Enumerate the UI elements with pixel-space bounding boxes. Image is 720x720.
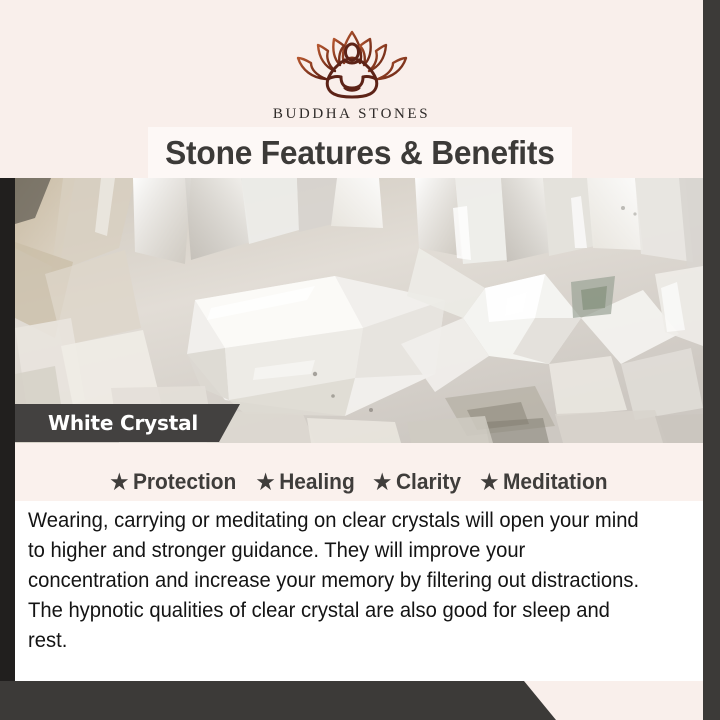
stone-name-label: White Crystal <box>48 411 198 435</box>
benefits-row: ★ Protection ★ Healing ★ Clarity ★ Medit… <box>15 463 703 501</box>
card-header: BUDDHA STONES Stone Features & Benefits <box>0 0 703 178</box>
star-icon: ★ <box>481 472 499 493</box>
benefit-label: Clarity <box>396 469 461 495</box>
white-crystal-photo <box>15 178 703 443</box>
star-icon: ★ <box>373 472 391 493</box>
benefit-label: Meditation <box>503 469 608 495</box>
benefit-item-clarity: ★ Clarity <box>373 469 461 495</box>
stone-feature-card: BUDDHA STONES Stone Features & Benefits <box>0 0 720 720</box>
content-top-strip <box>15 443 703 463</box>
brand-logo: BUDDHA STONES <box>0 26 703 123</box>
stone-name-tag: White Crystal <box>15 404 240 442</box>
benefit-label: Healing <box>279 469 354 495</box>
frame-left-bar <box>0 170 15 682</box>
star-icon: ★ <box>110 472 128 493</box>
title-banner: Stone Features & Benefits <box>148 127 572 178</box>
benefit-label: Protection <box>133 469 236 495</box>
benefit-item-protection: ★ Protection <box>110 469 236 495</box>
lotus-meditation-icon <box>278 26 426 102</box>
description-text: Wearing, carrying or meditating on clear… <box>28 505 648 655</box>
benefit-item-healing: ★ Healing <box>256 469 354 495</box>
page-title: Stone Features & Benefits <box>165 134 555 172</box>
frame-right-bar <box>703 0 720 720</box>
brand-name: BUDDHA STONES <box>273 106 430 123</box>
star-icon: ★ <box>256 472 274 493</box>
benefit-item-meditation: ★ Meditation <box>481 469 608 495</box>
frame-bottom-bar <box>0 681 720 720</box>
